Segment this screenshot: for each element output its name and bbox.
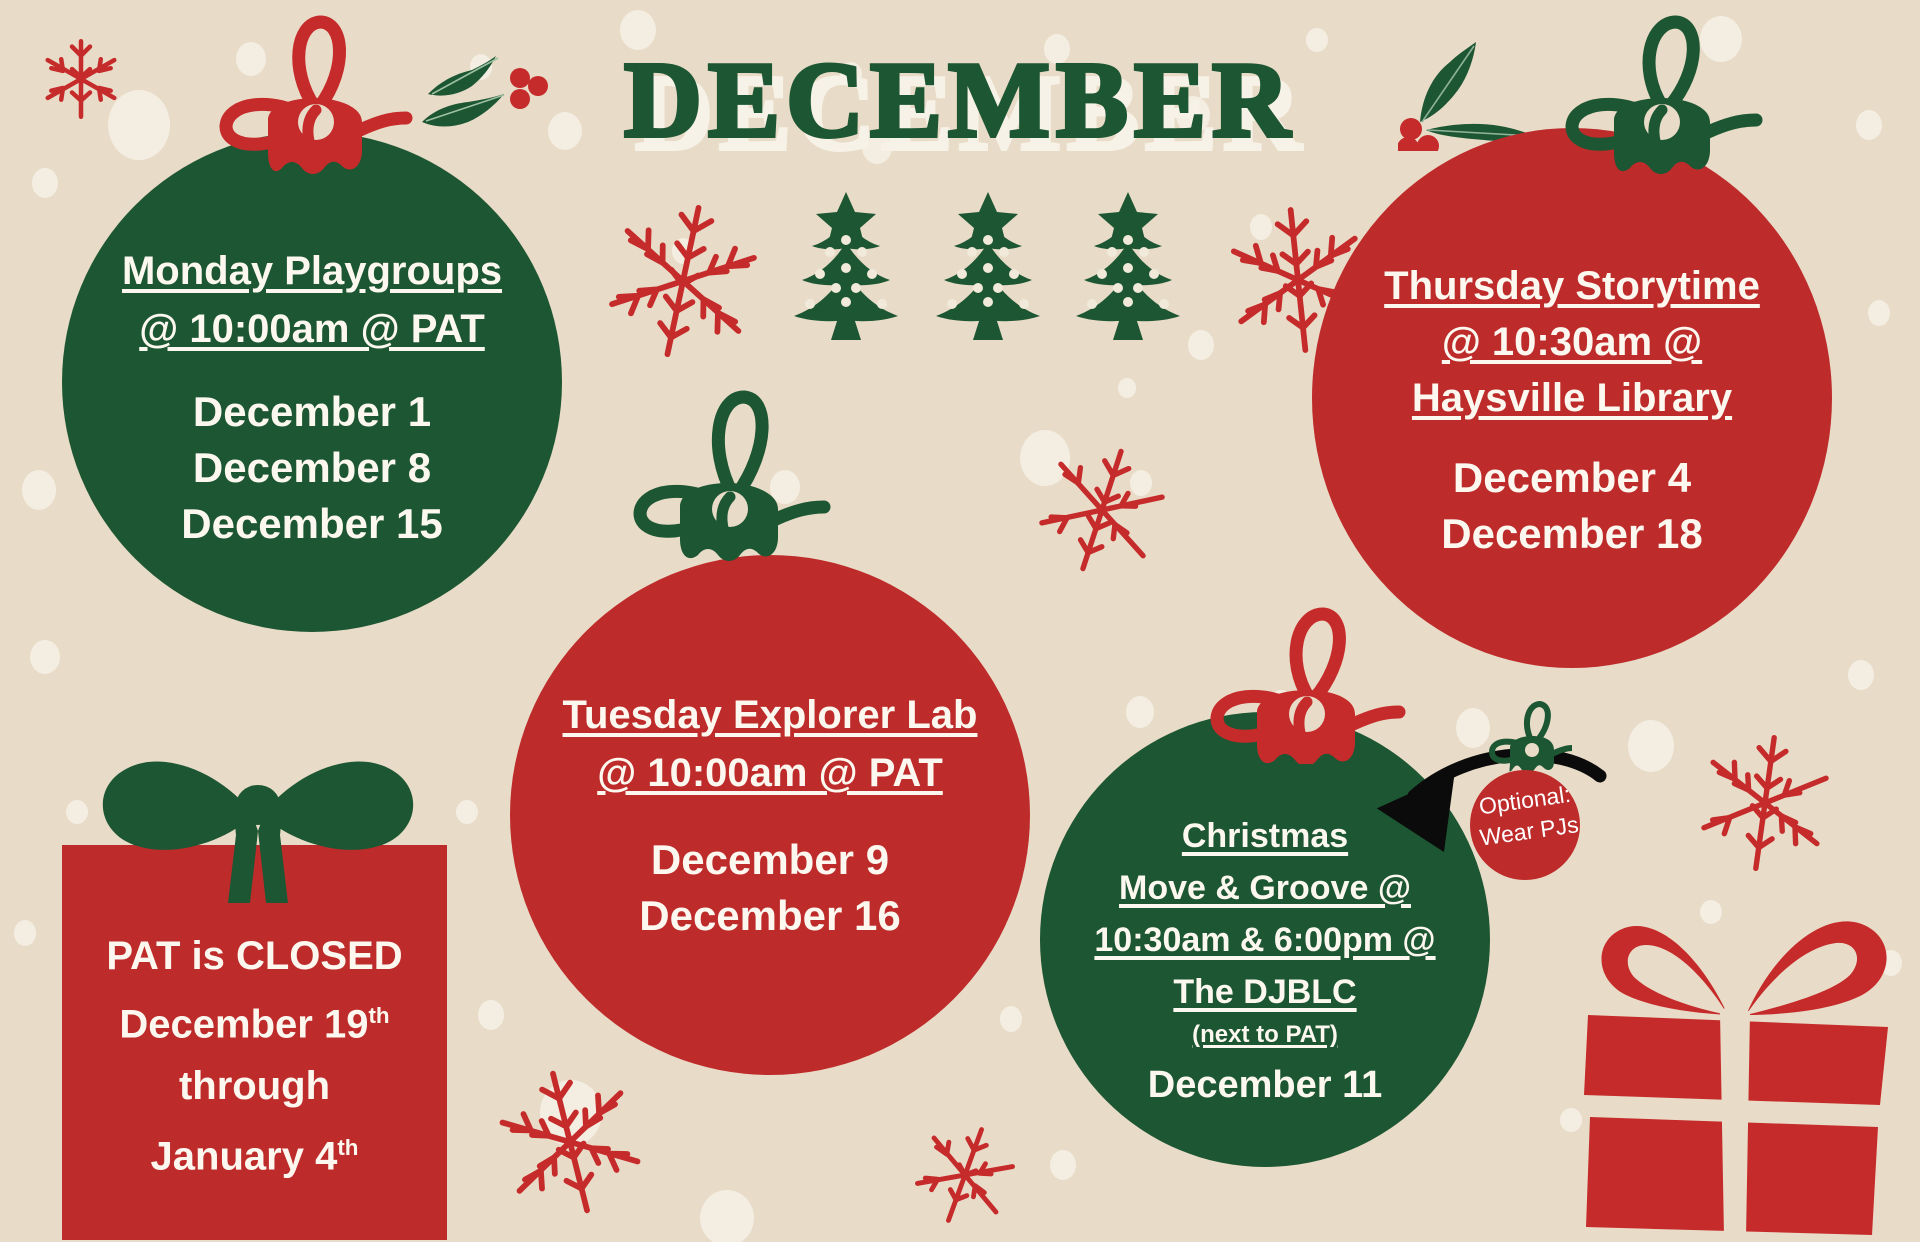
snowflake-icon xyxy=(895,1105,1036,1242)
pat-closed-line-4: January 4th xyxy=(62,1117,447,1187)
page-title-text: DECEMBER xyxy=(560,42,1360,160)
event-date: December 4 xyxy=(1453,450,1691,506)
pat-closed-gift: PAT is CLOSED December 19th through Janu… xyxy=(62,845,447,1240)
bg-dot xyxy=(1856,110,1882,140)
bg-dot xyxy=(30,640,60,674)
event-ornament-tuesday-explorer-lab[interactable]: Tuesday Explorer Lab @ 10:00am @ PAT Dec… xyxy=(510,555,1030,1075)
event-heading-line-1: Monday Playgroups xyxy=(122,242,502,300)
event-note: (next to PAT) xyxy=(1192,1018,1338,1052)
bg-dot xyxy=(1868,300,1890,326)
pat-closed-line-3: through xyxy=(62,1055,447,1117)
event-date: December 9 xyxy=(651,832,889,888)
ornament-content: Thursday Storytime @ 10:30am @ Haysville… xyxy=(1312,128,1832,668)
bg-dot xyxy=(32,168,58,198)
bg-dot xyxy=(456,800,478,824)
event-date: December 16 xyxy=(639,888,901,944)
snowflake-icon xyxy=(36,34,126,124)
event-ornament-thursday-storytime[interactable]: Thursday Storytime @ 10:30am @ Haysville… xyxy=(1312,128,1832,668)
snowflake-icon xyxy=(582,180,784,382)
event-date: December 8 xyxy=(193,440,431,496)
ornament-cap-icon xyxy=(622,385,832,565)
gift-bow-icon xyxy=(88,753,428,908)
event-heading-line-1: Christmas xyxy=(1182,810,1348,862)
event-ornament-monday-playgroups[interactable]: Monday Playgroups @ 10:00am @ PAT Decemb… xyxy=(62,132,562,632)
event-heading-line-2: @ 10:30am @ xyxy=(1442,314,1702,370)
bg-dot xyxy=(700,1190,754,1242)
event-heading-line-3: Haysville Library xyxy=(1412,370,1732,426)
event-date: December 1 xyxy=(193,384,431,440)
bg-dot xyxy=(22,470,56,510)
bg-dot xyxy=(14,920,36,946)
bg-dot xyxy=(478,1000,504,1030)
ornament-content: Tuesday Explorer Lab @ 10:00am @ PAT Dec… xyxy=(510,555,1030,1075)
event-date: December 18 xyxy=(1441,506,1703,562)
gift-box-icon xyxy=(1578,895,1908,1242)
christmas-tree-icon xyxy=(1068,190,1188,345)
ornament-content: Monday Playgroups @ 10:00am @ PAT Decemb… xyxy=(62,132,562,632)
event-heading-line-2: @ 10:00am @ PAT xyxy=(597,744,943,802)
pat-closed-line-1: PAT is CLOSED xyxy=(62,927,447,985)
bg-dot xyxy=(66,800,88,824)
pat-closed-line-2: December 19th xyxy=(62,985,447,1055)
event-heading-line-2: @ 10:00am @ PAT xyxy=(139,300,485,358)
pat-closed-text: PAT is CLOSED December 19th through Janu… xyxy=(62,927,447,1188)
snowflake-icon xyxy=(1680,718,1849,887)
bg-dot xyxy=(1848,660,1874,690)
christmas-tree-icon xyxy=(786,190,906,345)
event-date: December 15 xyxy=(181,496,443,552)
bg-dot xyxy=(1118,378,1136,398)
event-heading-line-1: Tuesday Explorer Lab xyxy=(563,686,978,744)
page-title: DECEMBER DECEMBER xyxy=(560,42,1360,172)
christmas-tree-icon xyxy=(928,190,1048,345)
event-heading-line-3: 10:30am & 6:00pm @ xyxy=(1094,914,1435,966)
poster-canvas: DECEMBER DECEMBER xyxy=(0,0,1920,1242)
event-date: December 11 xyxy=(1148,1060,1383,1110)
pj-ornament-cap-icon xyxy=(1488,700,1572,777)
bg-dot xyxy=(1188,330,1214,360)
bg-dot xyxy=(1628,720,1674,772)
event-heading-line-1: Thursday Storytime xyxy=(1384,258,1760,314)
event-heading-line-4: The DJBLC xyxy=(1173,966,1356,1018)
